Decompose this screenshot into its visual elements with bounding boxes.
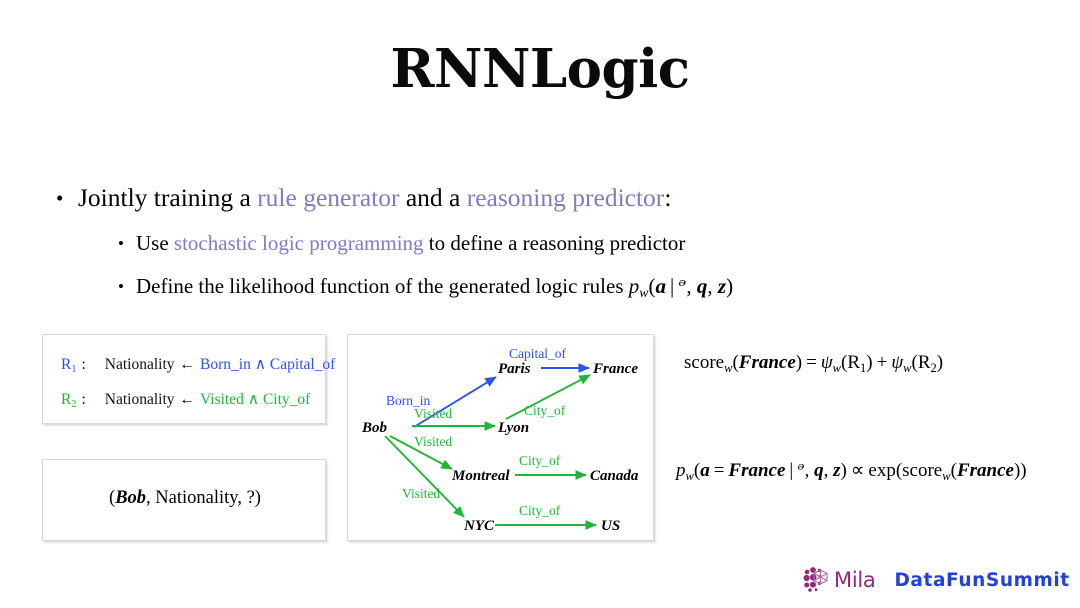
formula-close-paren: ) [726,274,733,298]
rule-id-letter: R [61,391,71,408]
query-close-paren: ) [255,488,261,508]
eq-prob-a: a [700,460,710,481]
sub-bullet-text-part1: Define the likelihood function of the ge… [136,274,629,298]
rule-head-nationality: Nationality [91,391,175,408]
rule-id-letter: R [61,356,71,373]
edge-label-city_of-us: City_of [519,503,561,518]
eq-prob-answer-france: France [728,460,785,481]
graph-node-montreal: Montreal [451,468,510,484]
page-title: RNNLogic [0,38,1080,100]
bullet-marker: • [118,234,136,254]
rule-id-r2: R2 [61,391,76,408]
bullet-text-part3: : [664,183,671,212]
bullet-accent-reasoning-predictor: reasoning predictor [467,183,665,212]
equation-score: scorew(France)=ψw(R1)+ψw(R2) [684,352,943,376]
sub-bullet-text-part1: Use [136,231,174,255]
eq-score-r2: R [918,352,931,373]
eq-prob-comma: , [824,460,829,481]
eq-prob-p: p [676,460,686,481]
formula-p: p [629,274,640,298]
graph-node-paris: Paris [498,361,531,377]
bullet-text-part1: Jointly training a [78,183,257,212]
eq-prob-propto: ∝ [847,460,869,481]
bullet-accent-rule-generator: rule generator [257,183,399,212]
graph-node-bob: Bob [361,420,388,436]
eq-prob-equals: = [710,460,729,481]
query-comma: , [237,488,242,508]
bullet-level2-sentence-2: •Define the likelihood function of the g… [118,274,733,301]
query-triple: (Bob, Nationality, ?) [43,488,327,509]
equation-probability: pw(a=France|ᵊ, q, z)∝exp(scorew(France)) [676,459,1027,484]
eq-prob-exp: exp [868,460,895,481]
formula-comma: , [686,274,691,298]
eq-prob-p-subscript: w [686,469,694,483]
formula-a: a [656,274,667,298]
eq-prob-q: q [814,460,824,481]
eq-score-r2-close: ) [937,352,943,373]
bullet-level1: •Jointly training a rule generator and a… [56,183,671,213]
rule-colon: : [76,391,90,408]
bullet-marker: • [56,186,78,211]
eq-prob-score: score [902,460,942,481]
formula-comma: , [707,274,712,298]
eq-score-equals: = [802,352,821,373]
graph-node-france: France [592,361,638,377]
eq-score-fn: score [684,352,724,373]
eq-score-psi-subscript: w [903,361,911,375]
edge-label-capital_of: Capital_of [509,346,566,361]
rule-colon: : [76,356,90,373]
rule-implication-arrow: ← [175,391,201,408]
eq-prob-score-subscript: w [942,469,950,483]
edge-label-city_of-france: City_of [524,403,566,418]
query-subject: Bob [115,488,146,508]
eq-score-psi-subscript: w [833,361,841,375]
formula-q: q [697,274,708,298]
rule-body-r1: Born_in ∧ Capital_of [200,356,335,373]
graph-node-lyon: Lyon [497,420,529,436]
mila-logo: Mila [803,566,875,594]
mila-hexagon-dots-icon [803,566,833,594]
bullet-marker: • [118,277,136,297]
logo-strip: Mila DataFunSummit [803,563,1070,597]
bullet-level2-sentence-1: •Use stochastic logic programming to def… [118,231,685,256]
sub-bullet-accent-slp: stochastic logic programming [174,231,424,255]
rule-row: R1:Nationality←Born_in ∧ Capital_of [61,355,335,375]
graph-node-nyc: NYC [463,518,495,534]
edge-label-visited-montreal: Visited [414,434,452,449]
eq-prob-exp-close: ) [1020,460,1026,481]
bullet-text-part2: and a [399,183,466,212]
eq-prob-comma: , [805,460,810,481]
eq-prob-bar: | [785,460,797,481]
formula-bar: | [666,274,678,298]
eq-score-psi: ψ [891,352,903,373]
query-relation: Nationality [155,488,237,508]
knowledge-graph-diagram: Born_in Capital_of Visited City_of Visit… [348,335,653,540]
edge-label-city_of-canada: City_of [519,453,561,468]
query-panel: (Bob, Nationality, ?) [42,459,326,541]
edge-label-visited-nyc: Visited [402,486,440,501]
eq-prob-close-paren: ) [840,460,846,481]
rule-row: R2:Nationality←Visited ∧ City_of [61,390,310,410]
eq-score-psi: ψ [821,352,833,373]
query-answer-placeholder: ? [247,488,255,508]
eq-prob-graph-symbol: ᵊ [797,459,804,481]
eq-score-r1: R [847,352,860,373]
edge-label-visited-lyon: Visited [414,406,452,421]
rule-implication-arrow: ← [175,356,201,373]
knowledge-graph-panel: Born_in Capital_of Visited City_of Visit… [347,334,654,541]
formula-open-paren: ( [649,274,656,298]
eq-prob-score-argument-france: France [957,460,1014,481]
eq-score-plus: + [873,352,892,373]
graph-node-us: US [601,518,620,534]
query-comma: , [146,488,151,508]
rules-panel: R1:Nationality←Born_in ∧ Capital_of R2:N… [42,334,326,424]
formula-z: z [718,274,726,298]
formula-p-subscript: w [639,285,648,300]
likelihood-formula: pw(a|ᵊ, q, z) [629,274,733,298]
rule-id-r1: R1 [61,356,76,373]
datafunsummit-logo: DataFunSummit [894,570,1069,591]
rule-head-nationality: Nationality [91,356,175,373]
sub-bullet-text-part2: to define a reasoning predictor [424,231,686,255]
mila-wordmark: Mila [834,568,875,592]
rule-body-r2: Visited ∧ City_of [200,391,310,408]
graph-node-canada: Canada [590,468,639,484]
eq-score-argument-france: France [739,352,796,373]
eq-score-r1-close: ) [866,352,872,373]
